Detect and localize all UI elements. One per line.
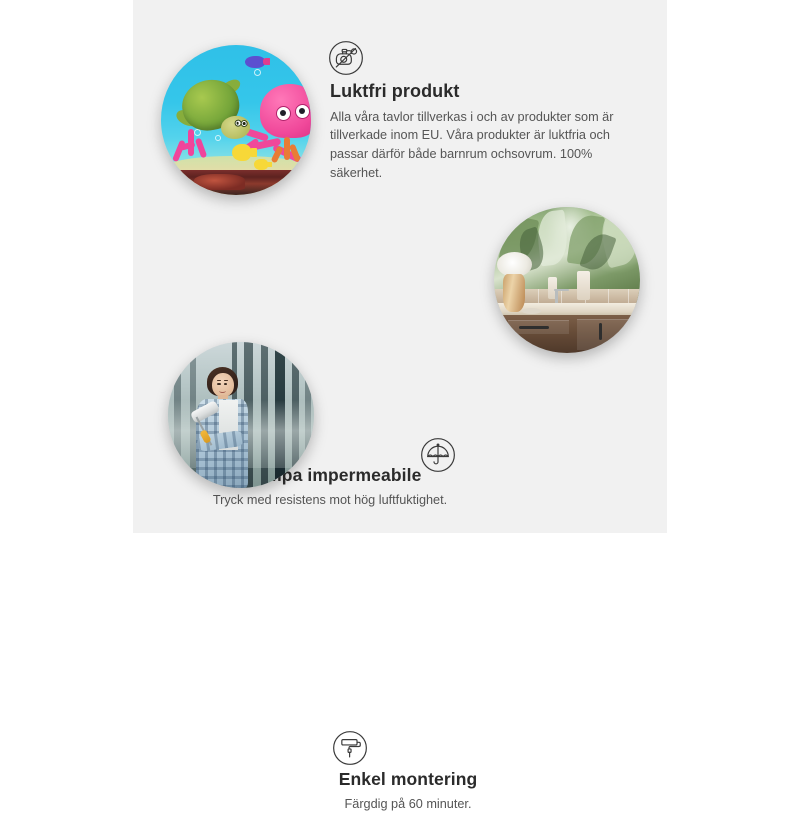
product-feature-infographic: Luktfri produkt Alla våra tavlor tillver… (0, 0, 800, 533)
feature-image-easy-installation (168, 342, 314, 488)
feature-heading: Enkel montering (258, 769, 558, 791)
feature-image-odour-free (161, 45, 311, 195)
feature-body: Färgdig på 60 minuter. (258, 795, 558, 813)
feature-block-easy-installation: Enkel montering Färgdig på 60 minuter. (0, 330, 800, 533)
feature-body: Alla våra tavlor tillverkas i och av pro… (330, 108, 630, 183)
paint-roller-icon (331, 729, 369, 767)
feature-heading: Luktfri produkt (330, 80, 630, 103)
no-perfume-bottle-icon (327, 39, 365, 77)
feature-text-easy-installation: Enkel montering Färgdig på 60 minuter. (258, 769, 558, 813)
feature-text-odour-free: Luktfri produkt Alla våra tavlor tillver… (330, 80, 630, 183)
feature-block-odour-free: Luktfri produkt Alla våra tavlor tillver… (0, 0, 800, 200)
